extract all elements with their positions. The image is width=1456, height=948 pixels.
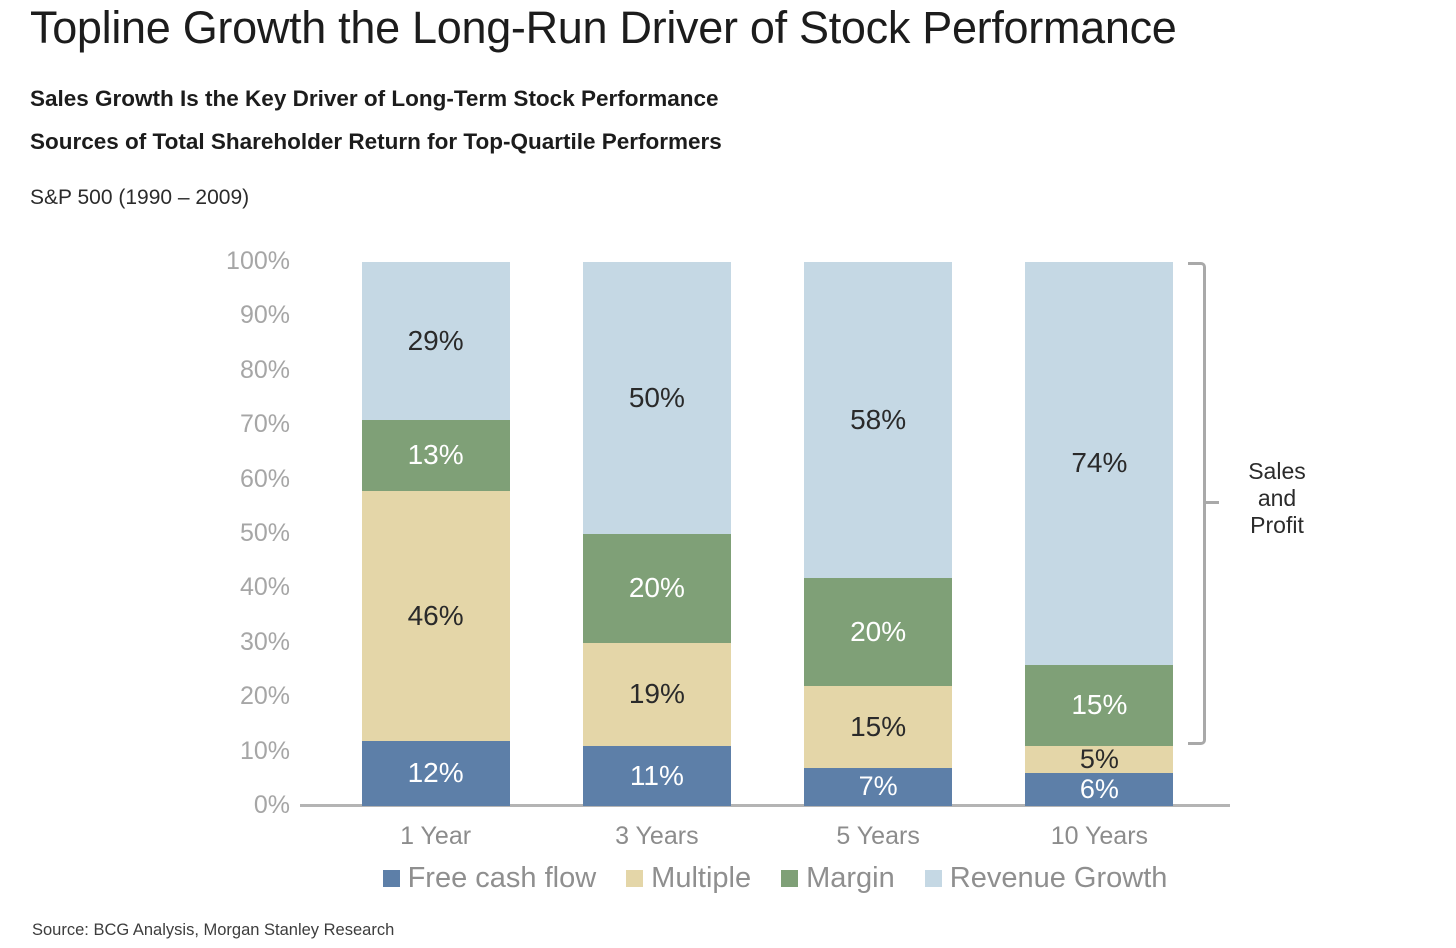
- bar-segment-value-label: 19%: [629, 680, 685, 708]
- bar-segment[interactable]: 29%: [362, 262, 510, 420]
- bar-segment[interactable]: 74%: [1025, 262, 1173, 665]
- bar-segment[interactable]: 12%: [362, 741, 510, 806]
- bar-segment-value-label: 12%: [408, 759, 464, 787]
- bar-group[interactable]: 58%20%15%7%: [804, 262, 952, 806]
- legend-item[interactable]: Margin: [781, 862, 895, 895]
- bar-segment-value-label: 50%: [629, 384, 685, 412]
- bar-segment-value-label: 46%: [408, 602, 464, 630]
- bar-segment-value-label: 15%: [850, 713, 906, 741]
- bar-segment[interactable]: 58%: [804, 262, 952, 578]
- legend-swatch-icon: [925, 870, 942, 887]
- bar-segment[interactable]: 15%: [1025, 665, 1173, 747]
- bar-segment[interactable]: 13%: [362, 420, 510, 491]
- bar-stack: 50%20%19%11%: [583, 262, 731, 806]
- bar-segment[interactable]: 6%: [1025, 773, 1173, 806]
- bracket-label-line: and: [1222, 485, 1332, 512]
- bar-segment-value-label: 20%: [850, 618, 906, 646]
- y-axis-tick-label: 60%: [195, 467, 290, 492]
- y-axis-tick-label: 50%: [195, 521, 290, 546]
- bar-segment[interactable]: 5%: [1025, 746, 1173, 773]
- bar-group[interactable]: 74%15%5%6%: [1025, 262, 1173, 806]
- bar-group[interactable]: 29%13%46%12%: [362, 262, 510, 806]
- y-axis-tick-label: 30%: [195, 630, 290, 655]
- legend-item[interactable]: Revenue Growth: [925, 862, 1168, 895]
- y-axis-tick-label: 10%: [195, 739, 290, 764]
- source-note: Source: BCG Analysis, Morgan Stanley Res…: [32, 921, 394, 940]
- legend-label: Revenue Growth: [950, 862, 1168, 895]
- bracket-pointer-icon: [1206, 501, 1219, 504]
- legend-label: Free cash flow: [408, 862, 597, 895]
- y-axis-tick-label: 20%: [195, 684, 290, 709]
- bracket-label: SalesandProfit: [1222, 458, 1332, 539]
- y-axis-tick-label: 80%: [195, 358, 290, 383]
- bar-segment[interactable]: 11%: [583, 746, 731, 806]
- x-axis-tick-label: 1 Year: [336, 822, 536, 851]
- legend-swatch-icon: [781, 870, 798, 887]
- bar-segment-value-label: 7%: [859, 773, 898, 800]
- bar-segment[interactable]: 50%: [583, 262, 731, 534]
- bracket-label-line: Profit: [1222, 512, 1332, 539]
- y-axis-tick-label: 90%: [195, 303, 290, 328]
- bar-segment-value-label: 20%: [629, 574, 685, 602]
- bar-stack: 58%20%15%7%: [804, 262, 952, 806]
- legend-label: Margin: [806, 862, 895, 895]
- y-axis-tick-label: 100%: [195, 249, 290, 274]
- y-axis-tick-label: 0%: [195, 793, 290, 818]
- bar-segment[interactable]: 19%: [583, 643, 731, 746]
- bar-group[interactable]: 50%20%19%11%: [583, 262, 731, 806]
- bracket-label-line: Sales: [1222, 458, 1332, 485]
- bar-stack: 29%13%46%12%: [362, 262, 510, 806]
- legend-swatch-icon: [383, 870, 400, 887]
- bar-segment-value-label: 15%: [1071, 691, 1127, 719]
- bar-segment-value-label: 6%: [1080, 776, 1119, 803]
- x-axis-tick-label: 3 Years: [557, 822, 757, 851]
- x-axis-tick-label: 5 Years: [778, 822, 978, 851]
- bar-segment-value-label: 29%: [408, 327, 464, 355]
- stacked-bar-chart: 100%90%80%70%60%50%40%30%20%10%0% 29%13%…: [0, 0, 1456, 948]
- legend-label: Multiple: [651, 862, 751, 895]
- bar-segment[interactable]: 15%: [804, 686, 952, 768]
- legend-swatch-icon: [626, 870, 643, 887]
- bar-segment-value-label: 58%: [850, 406, 906, 434]
- plot-area: 29%13%46%12%50%20%19%11%58%20%15%7%74%15…: [325, 262, 1210, 806]
- bar-segment-value-label: 74%: [1071, 449, 1127, 477]
- x-axis-tick-label: 10 Years: [999, 822, 1199, 851]
- bar-segment[interactable]: 7%: [804, 768, 952, 806]
- chart-legend: Free cash flowMultipleMarginRevenue Grow…: [325, 862, 1225, 895]
- sales-and-profit-bracket: [1188, 262, 1206, 745]
- legend-item[interactable]: Multiple: [626, 862, 751, 895]
- bar-segment[interactable]: 20%: [804, 578, 952, 687]
- legend-item[interactable]: Free cash flow: [383, 862, 597, 895]
- bar-segment[interactable]: 46%: [362, 491, 510, 741]
- bar-segment-value-label: 5%: [1080, 746, 1119, 773]
- y-axis-tick-label: 40%: [195, 575, 290, 600]
- bar-segment[interactable]: 20%: [583, 534, 731, 643]
- bar-stack: 74%15%5%6%: [1025, 262, 1173, 806]
- bar-segment-value-label: 11%: [630, 762, 684, 790]
- bar-segment-value-label: 13%: [408, 441, 464, 469]
- y-axis-tick-label: 70%: [195, 412, 290, 437]
- y-axis: 100%90%80%70%60%50%40%30%20%10%0%: [195, 247, 290, 821]
